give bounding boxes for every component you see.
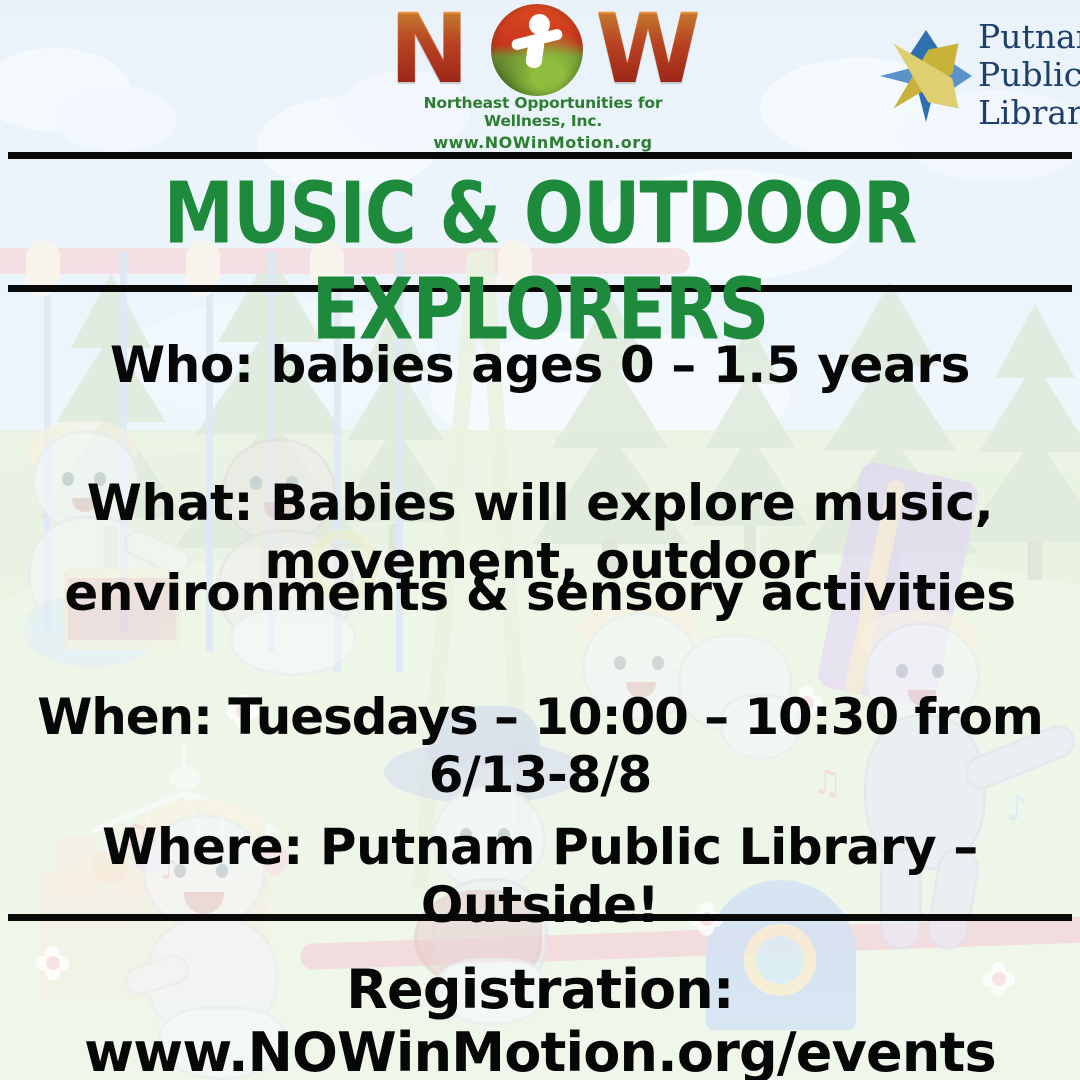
poster-content: N W Northeast Opportunities for Wellness… [0, 0, 1080, 1080]
eight-point-star-icon [874, 24, 978, 128]
poster-canvas: ♫ ♪ ♫ ♪ N W Northeast Opportunities for … [0, 0, 1080, 1080]
library-line-1: Putnam [978, 18, 1074, 56]
library-line-3: Library [978, 94, 1074, 132]
now-wordmark: N W [383, 6, 703, 92]
page-title: MUSIC & OUTDOOR EXPLORERS [38, 165, 1042, 358]
library-name: Putnam Public Library [978, 18, 1074, 132]
detail-when: When: Tuesdays – 10:00 – 10:30 from 6/13… [4, 688, 1076, 804]
detail-who: Who: babies ages 0 – 1.5 years [0, 336, 1080, 394]
divider-top [8, 152, 1072, 159]
library-line-2: Public [978, 56, 1074, 94]
now-sun-runner-icon [491, 4, 583, 96]
now-letter-w: W [595, 6, 701, 92]
now-letter-n: N [389, 6, 469, 92]
detail-what-line-2: environments & sensory activities [0, 564, 1080, 622]
registration-line[interactable]: Registration: www.NOWinMotion.org/events [0, 958, 1080, 1080]
detail-where: Where: Putnam Public Library – Outside! [0, 818, 1080, 934]
now-url: www.NOWinMotion.org [383, 133, 703, 152]
putnam-library-logo: Putnam Public Library [874, 18, 1066, 138]
runner-figure-icon [513, 14, 561, 70]
now-logo: N W Northeast Opportunities for Wellness… [383, 6, 703, 142]
